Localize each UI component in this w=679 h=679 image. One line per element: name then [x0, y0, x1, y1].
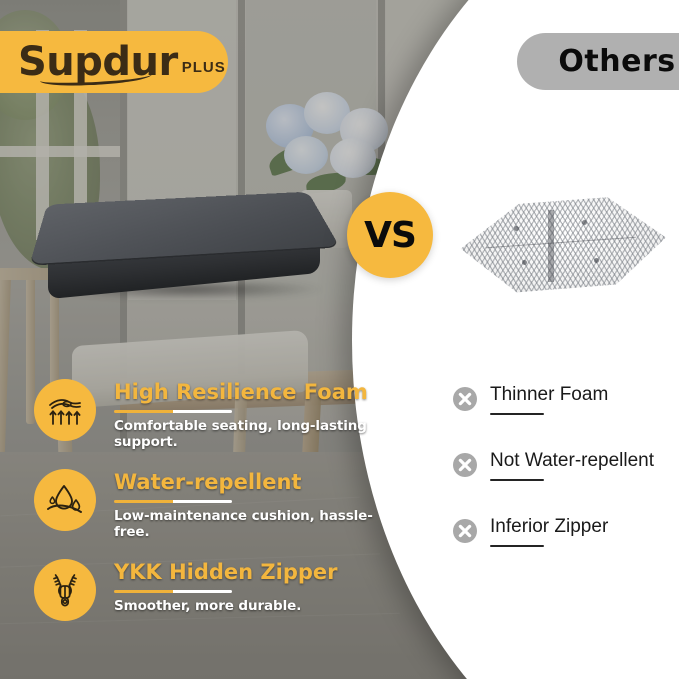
product-cushion-image: [28, 178, 340, 306]
hand-press-resilience-icon: [34, 379, 96, 441]
feature-subtitle: Smoother, more durable.: [114, 598, 384, 614]
con-text-block: Not Water-repellent: [490, 447, 654, 481]
competitor-tuft-3: [522, 260, 527, 265]
x-circle-icon: [452, 518, 478, 544]
feature-divider: [114, 590, 232, 593]
con-title: Thinner Foam: [490, 381, 608, 410]
x-circle-icon: [452, 452, 478, 478]
water-droplet-repellent-icon: [34, 469, 96, 531]
competitor-con-list: Thinner Foam Not Water-repellent: [452, 384, 667, 582]
feature-subtitle: Comfortable seating, long-lasting suppor…: [114, 418, 384, 450]
versus-label: VS: [364, 215, 416, 256]
zipper-icon: [34, 559, 96, 621]
feature-subtitle: Low-maintenance cushion, hassle-free.: [114, 508, 384, 540]
con-divider: [490, 413, 544, 416]
feature-item-ykk-hidden-zipper: YKK Hidden Zipper Smoother, more durable…: [34, 555, 384, 645]
con-text-block: Thinner Foam: [490, 381, 608, 415]
competitor-seam-2: [548, 210, 554, 282]
con-title: Not Water-repellent: [490, 447, 654, 476]
con-item-thinner-foam: Thinner Foam: [452, 384, 667, 450]
feature-title: YKK Hidden Zipper: [114, 561, 384, 584]
feature-text-block: Water-repellent Low-maintenance cushion,…: [114, 471, 384, 540]
competitor-cushion-image: [452, 186, 668, 298]
con-text-block: Inferior Zipper: [490, 513, 608, 547]
x-circle-icon: [452, 386, 478, 412]
competitor-label-text: Others: [558, 44, 675, 79]
con-divider: [490, 545, 544, 548]
brand-logo-suffix: PLUS: [182, 59, 226, 76]
feature-list: High Resilience Foam Comfortable seating…: [34, 375, 384, 645]
competitor-tuft-1: [514, 226, 519, 231]
competitor-tuft-4: [594, 258, 599, 263]
feature-text-block: High Resilience Foam Comfortable seating…: [114, 381, 384, 450]
con-divider: [490, 479, 544, 482]
feature-text-block: YKK Hidden Zipper Smoother, more durable…: [114, 561, 384, 614]
brand-logo-icon: Supdur PLUS: [18, 42, 226, 82]
con-item-not-water-repellent: Not Water-repellent: [452, 450, 667, 516]
feature-divider: [114, 500, 232, 503]
feature-title: Water-repellent: [114, 471, 384, 494]
feature-title: High Resilience Foam: [114, 381, 384, 404]
comparison-infographic: Supdur PLUS Others VS: [0, 0, 679, 679]
brand-logo-pill: Supdur PLUS: [0, 31, 228, 93]
feature-item-water-repellent: Water-repellent Low-maintenance cushion,…: [34, 465, 384, 555]
con-item-inferior-zipper: Inferior Zipper: [452, 516, 667, 582]
competitor-label-pill: Others: [517, 33, 679, 90]
feature-divider: [114, 410, 232, 413]
competitor-tuft-2: [582, 220, 587, 225]
versus-badge: VS: [347, 192, 433, 278]
con-title: Inferior Zipper: [490, 513, 608, 542]
feature-item-high-resilience-foam: High Resilience Foam Comfortable seating…: [34, 375, 384, 465]
